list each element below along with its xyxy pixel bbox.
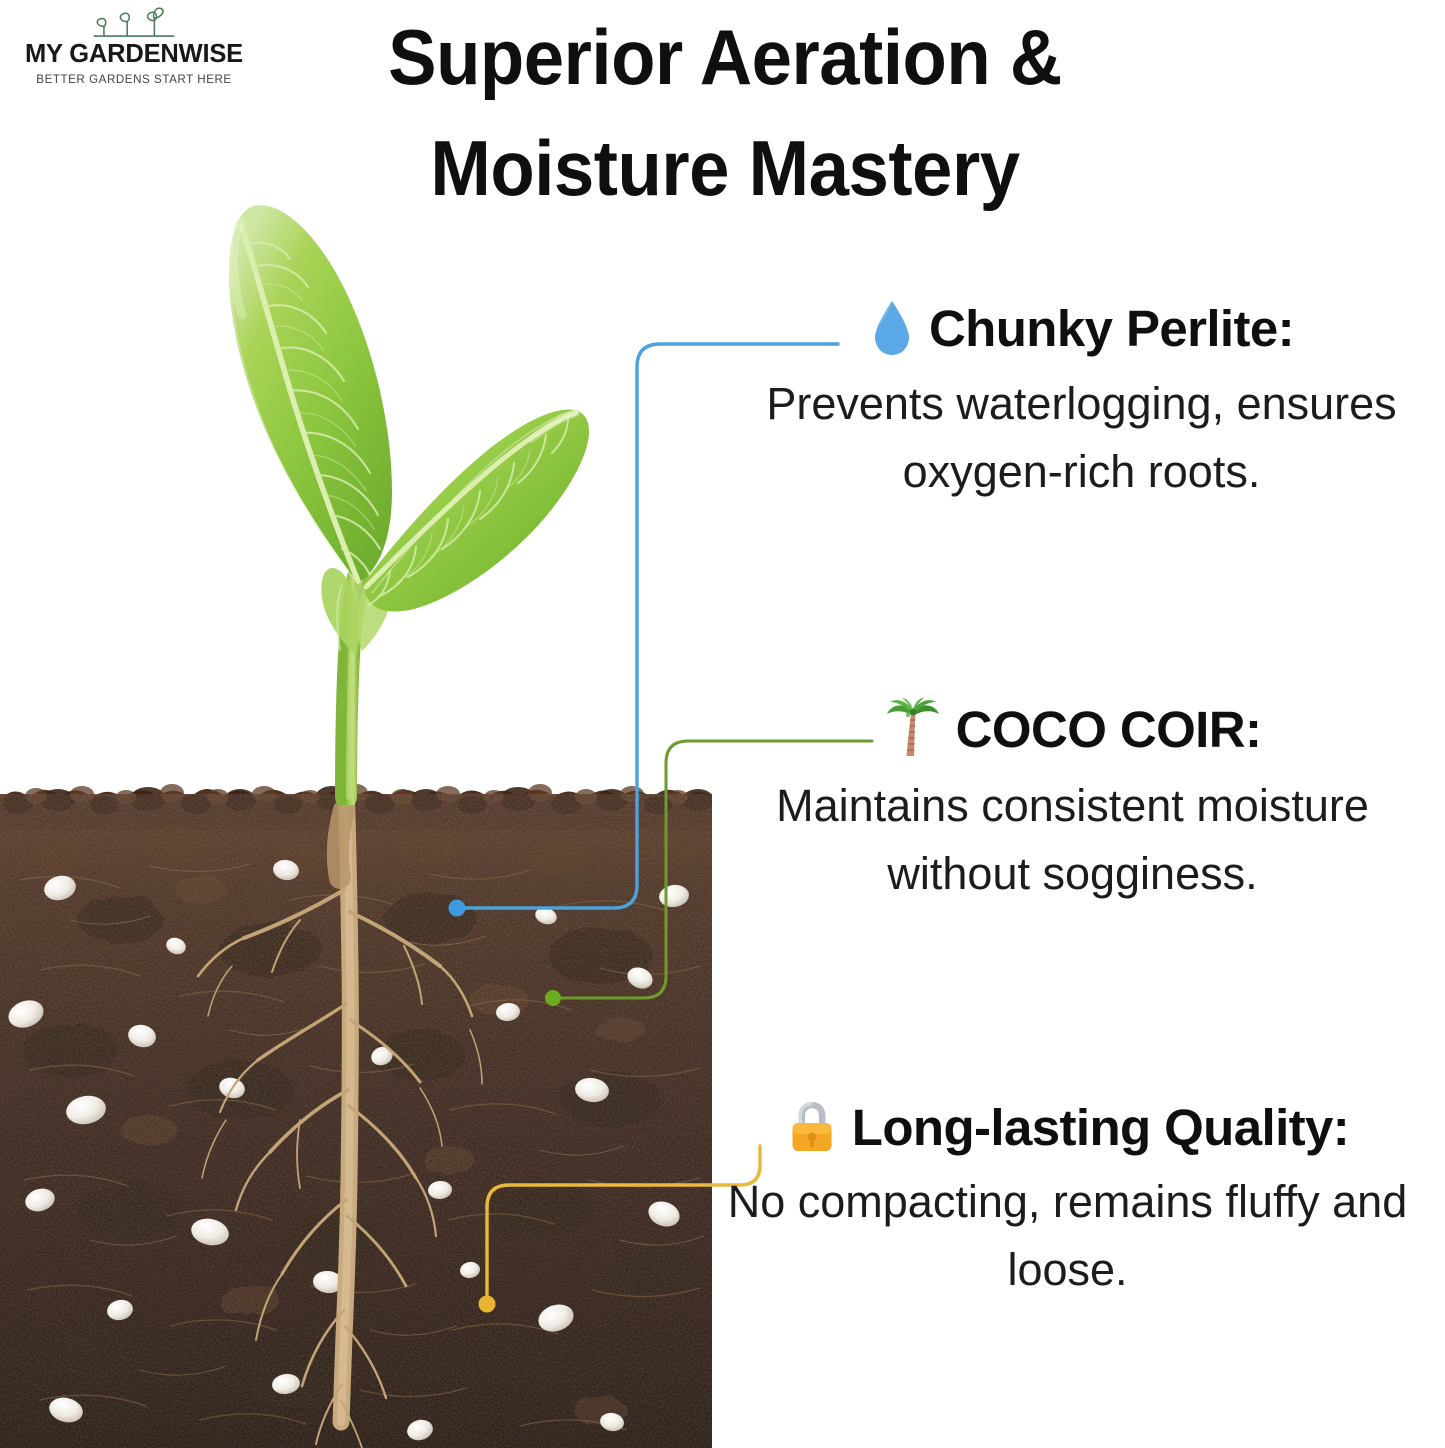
palm-tree-icon	[884, 698, 942, 760]
callout-long-lasting-quality: Long-lasting Quality: No compacting, rem…	[690, 1098, 1445, 1305]
brand-logo: MY GARDENWISE BETTER GARDENS START HERE	[14, 6, 254, 86]
plant-illustration	[150, 185, 630, 805]
callout-body: No compacting, remains fluffy and loose.	[690, 1168, 1445, 1305]
callout-body: Prevents waterlogging, ensures oxygen-ri…	[718, 370, 1445, 507]
soil-illustration	[0, 770, 712, 1448]
callout-coco-coir: COCO COIR: Maintains consistent moisture…	[700, 698, 1445, 909]
callout-title: COCO COIR:	[956, 704, 1262, 755]
seedling-plant	[150, 185, 630, 805]
callout-title: Chunky Perlite:	[929, 303, 1294, 354]
logo-tagline: BETTER GARDENS START HERE	[36, 74, 231, 86]
soil-cross-section-photo	[0, 770, 712, 1448]
title-line-1: Superior Aeration &	[388, 13, 1062, 101]
logo-wordmark: MY GARDENWISE	[25, 42, 243, 68]
callout-header: COCO COIR:	[700, 698, 1445, 760]
callout-header: Chunky Perlite:	[718, 298, 1445, 358]
three-seedlings-icon	[79, 6, 189, 41]
padlock-icon	[786, 1098, 838, 1156]
water-droplet-icon	[869, 298, 915, 358]
title-line-2: Moisture Mastery	[430, 124, 1019, 212]
page-title: Superior Aeration &Moisture Mastery	[297, 2, 1153, 224]
callout-title: Long-lasting Quality:	[852, 1102, 1349, 1153]
callout-chunky-perlite: Chunky Perlite: Prevents waterlogging, e…	[718, 298, 1445, 507]
callout-body: Maintains consistent moisture without so…	[700, 772, 1445, 909]
callout-header: Long-lasting Quality:	[690, 1098, 1445, 1156]
